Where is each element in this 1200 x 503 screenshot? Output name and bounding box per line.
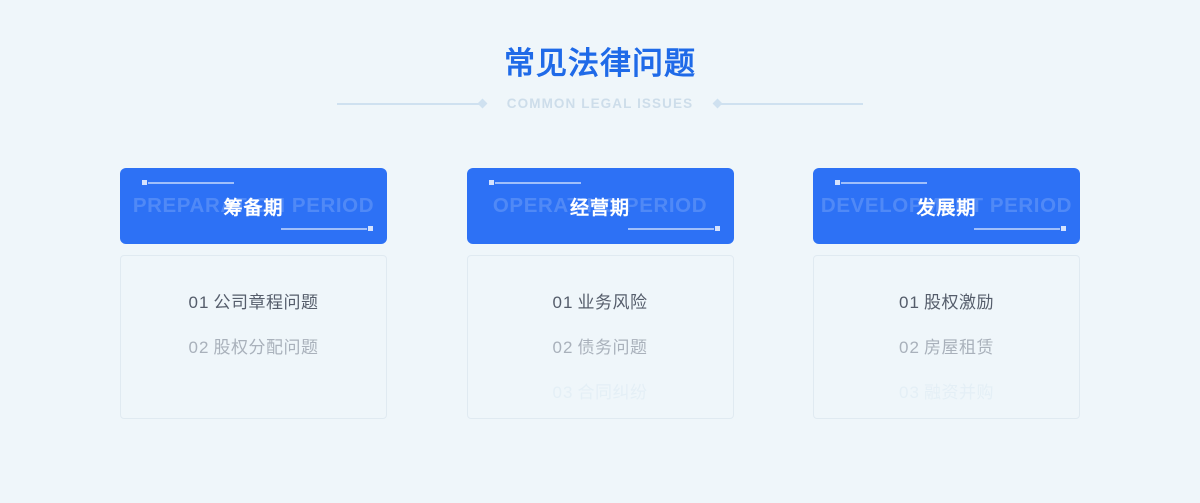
list-item-label: 股权分配问题	[213, 338, 318, 357]
list-item-number: 02	[899, 338, 920, 357]
list-item-number: 03	[899, 383, 920, 402]
list-item[interactable]: 03融资并购	[814, 370, 1079, 415]
list-item-number: 01	[553, 293, 574, 312]
header-decoration-bottom-right	[974, 226, 1066, 232]
header-decoration-top-left	[489, 180, 581, 186]
decoration-bar	[841, 182, 927, 184]
subtitle-row: COMMON LEGAL ISSUES	[0, 95, 1200, 113]
list-item-number: 02	[553, 338, 574, 357]
header-decoration-top-left	[835, 180, 927, 186]
decoration-dot-icon	[368, 226, 373, 231]
decorative-line-right-bar	[715, 103, 863, 105]
decoration-dot-icon	[489, 180, 494, 185]
list-item[interactable]	[121, 370, 386, 415]
page-subtitle: COMMON LEGAL ISSUES	[485, 95, 715, 113]
section-header: 常见法律问题 COMMON LEGAL ISSUES	[0, 44, 1200, 113]
page-root: 常见法律问题 COMMON LEGAL ISSUES PREPARATION P…	[0, 0, 1200, 503]
decorative-line-left-bar	[337, 103, 485, 105]
list-item[interactable]: 03合同纠纷	[468, 370, 733, 415]
card-body: 01股权激励 02房屋租赁 03融资并购	[813, 255, 1080, 419]
list-item-label: 房屋租赁	[924, 338, 994, 357]
decorative-line-right	[715, 99, 863, 109]
list-item-label: 合同纠纷	[577, 383, 647, 402]
list-item-label: 业务风险	[577, 293, 647, 312]
list-item-number: 02	[189, 338, 210, 357]
header-decoration-top-left	[142, 180, 234, 186]
list-item[interactable]: 01业务风险	[468, 280, 733, 325]
header-decoration-bottom-right	[628, 226, 720, 232]
decoration-bar	[148, 182, 234, 184]
decorative-line-left	[337, 99, 485, 109]
list-item[interactable]: 01公司章程问题	[121, 280, 386, 325]
decoration-bar	[628, 228, 714, 230]
list-item-number: 01	[189, 293, 210, 312]
card-header[interactable]: OPERATING PERIOD 经营期	[467, 168, 734, 244]
list-item[interactable]: 01股权激励	[814, 280, 1079, 325]
header-decoration-bottom-right	[281, 226, 373, 232]
decorative-arrow-right-icon	[713, 99, 723, 109]
list-item-number: 01	[899, 293, 920, 312]
list-item-number: 03	[553, 383, 574, 402]
card-title: 经营期	[570, 193, 630, 220]
card-body: 01公司章程问题 02股权分配问题	[120, 255, 387, 419]
list-item-label: 债务问题	[577, 338, 647, 357]
card-development-period[interactable]: DEVELOPMENT PERIOD 发展期 01股权激励 02房屋租赁 03融…	[813, 168, 1080, 419]
list-item-label: 融资并购	[924, 383, 994, 402]
list-item[interactable]: 02股权分配问题	[121, 325, 386, 370]
decoration-dot-icon	[835, 180, 840, 185]
decoration-dot-icon	[1061, 226, 1066, 231]
card-title: 筹备期	[223, 193, 283, 220]
decoration-dot-icon	[142, 180, 147, 185]
card-preparation-period[interactable]: PREPARATION PERIOD 筹备期 01公司章程问题 02股权分配问题	[120, 168, 387, 419]
decoration-bar	[281, 228, 367, 230]
decoration-dot-icon	[715, 226, 720, 231]
card-header[interactable]: DEVELOPMENT PERIOD 发展期	[813, 168, 1080, 244]
decoration-bar	[495, 182, 581, 184]
card-list: PREPARATION PERIOD 筹备期 01公司章程问题 02股权分配问题	[120, 168, 1080, 419]
card-body: 01业务风险 02债务问题 03合同纠纷	[467, 255, 734, 419]
list-item-label: 公司章程问题	[213, 293, 318, 312]
card-operating-period[interactable]: OPERATING PERIOD 经营期 01业务风险 02债务问题 03合同纠…	[467, 168, 734, 419]
list-item-label: 股权激励	[924, 293, 994, 312]
card-title: 发展期	[916, 193, 976, 220]
decoration-bar	[974, 228, 1060, 230]
list-item[interactable]: 02债务问题	[468, 325, 733, 370]
card-header[interactable]: PREPARATION PERIOD 筹备期	[120, 168, 387, 244]
page-title: 常见法律问题	[0, 44, 1200, 84]
list-item[interactable]: 02房屋租赁	[814, 325, 1079, 370]
